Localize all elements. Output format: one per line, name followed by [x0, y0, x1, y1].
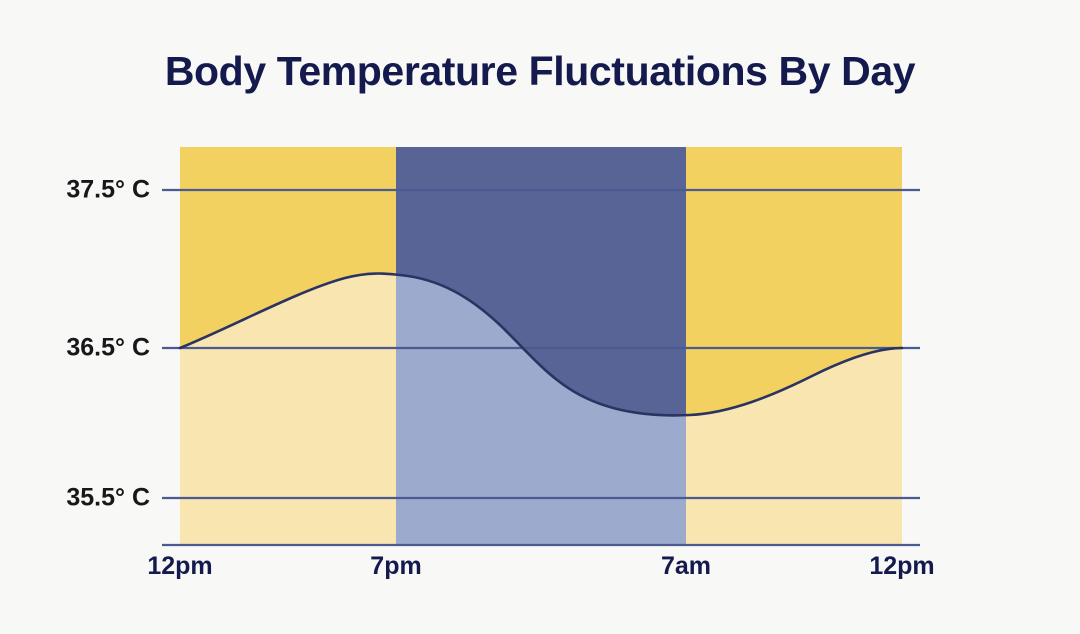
ytick-label-37-5: 37.5° C [0, 176, 150, 205]
xtick-label-12pm-start: 12pm [147, 552, 212, 581]
ytick-label-35-5: 35.5° C [0, 484, 150, 513]
body-temperature-chart: Body Temperature Fluctuations By Day 37 [0, 0, 1080, 634]
ytick-label-36-5: 36.5° C [0, 334, 150, 363]
xtick-label-7pm: 7pm [370, 552, 421, 581]
temperature-curve-layer [0, 0, 1080, 634]
xtick-label-12pm-end: 12pm [869, 552, 934, 581]
xtick-label-7am: 7am [661, 552, 711, 581]
